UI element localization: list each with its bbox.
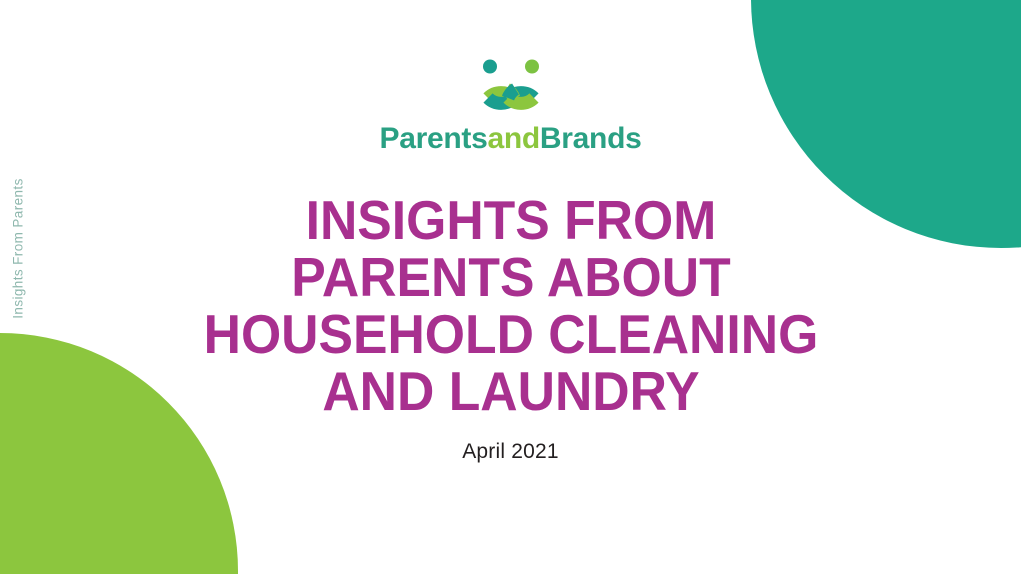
title-line-2: PARENTS ABOUT	[203, 249, 818, 306]
wordmark-brands: Brands	[540, 122, 642, 155]
title-line-4: AND LAUNDRY	[203, 363, 818, 420]
slide-content: ParentsandBrands INSIGHTS FROM PARENTS A…	[0, 0, 1021, 574]
title-line-3: HOUSEHOLD CLEANING	[203, 306, 818, 363]
page-title: INSIGHTS FROM PARENTS ABOUT HOUSEHOLD CL…	[203, 192, 818, 420]
logo: ParentsandBrands	[380, 58, 642, 154]
infinity-people-logo-icon	[457, 58, 565, 120]
title-line-1: INSIGHTS FROM	[203, 192, 818, 249]
logo-wordmark: ParentsandBrands	[380, 124, 642, 154]
title-slide: Insights From Parents Parentsa	[0, 0, 1021, 574]
date-text: April 2021	[462, 440, 559, 464]
wordmark-parents: Parents	[380, 122, 488, 155]
wordmark-and: and	[487, 122, 539, 155]
